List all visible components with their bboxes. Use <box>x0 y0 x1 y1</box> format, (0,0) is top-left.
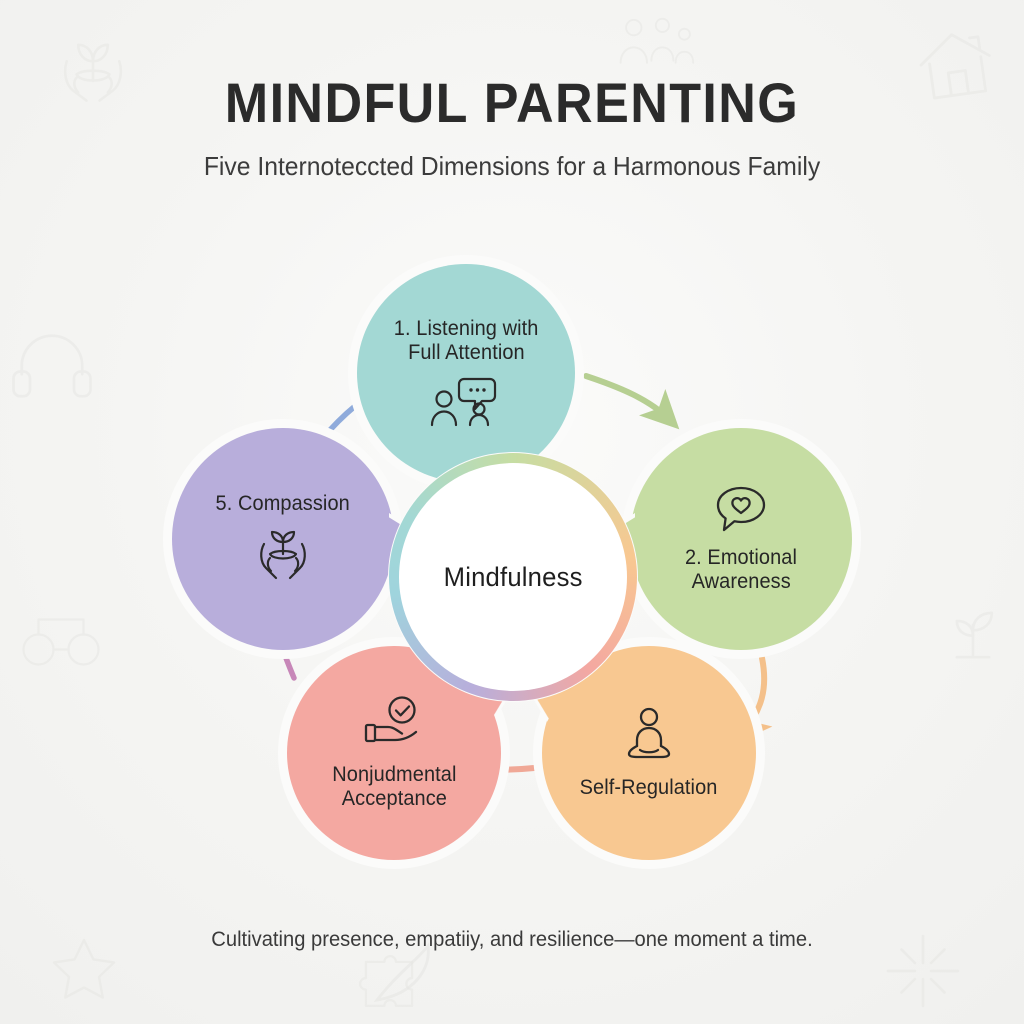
node-label-line2: Awareness <box>691 570 790 594</box>
node-label-line1: 5. Compassion <box>216 492 350 516</box>
page-title: MINDFUL PARENTING <box>36 74 988 133</box>
node-compassion[interactable]: 5. Compassion <box>172 428 394 650</box>
arrow-listening-to-emotional <box>586 376 670 420</box>
node-label-line1: Nonjudmental <box>332 763 456 787</box>
infographic-poster: MINDFUL PARENTING Five Internoteccted Di… <box>0 0 1024 1024</box>
node-label-line2: Full Attention <box>408 341 525 365</box>
page-subtitle: Five Internoteccted Dimensions for a Har… <box>26 151 999 182</box>
center-hub-mindfulness[interactable]: Mindfulness <box>394 458 632 696</box>
node-emotional-awareness[interactable]: 2. Emotional Awareness <box>630 428 852 650</box>
hand-with-checkmark-icon <box>360 695 428 751</box>
poster-header: MINDFUL PARENTING Five Internoteccted Di… <box>0 74 1024 182</box>
family-watermark-icon <box>614 8 702 78</box>
node-label-line2: Acceptance <box>341 787 446 811</box>
puzzle-watermark-icon <box>352 948 426 1022</box>
meditating-person-icon <box>618 706 680 764</box>
two-people-speech-bubble-icon <box>428 373 504 429</box>
node-label-line1: 2. Emotional <box>685 546 797 570</box>
hands-holding-sprout-icon <box>242 520 324 586</box>
heart-speech-bubble-icon <box>712 484 770 536</box>
node-label-line1: 1. Listening with <box>394 317 539 341</box>
node-listening-with-full-attention[interactable]: 1. Listening with Full Attention <box>357 264 575 482</box>
footer-tagline: Cultivating presence, empatiiy, and resi… <box>20 928 1003 952</box>
mindfulness-cycle-diagram: 1. Listening with Full Attention <box>62 248 962 888</box>
node-label-line1: Self-Regulation <box>580 776 718 800</box>
hub-label: Mindfulness <box>444 562 583 593</box>
